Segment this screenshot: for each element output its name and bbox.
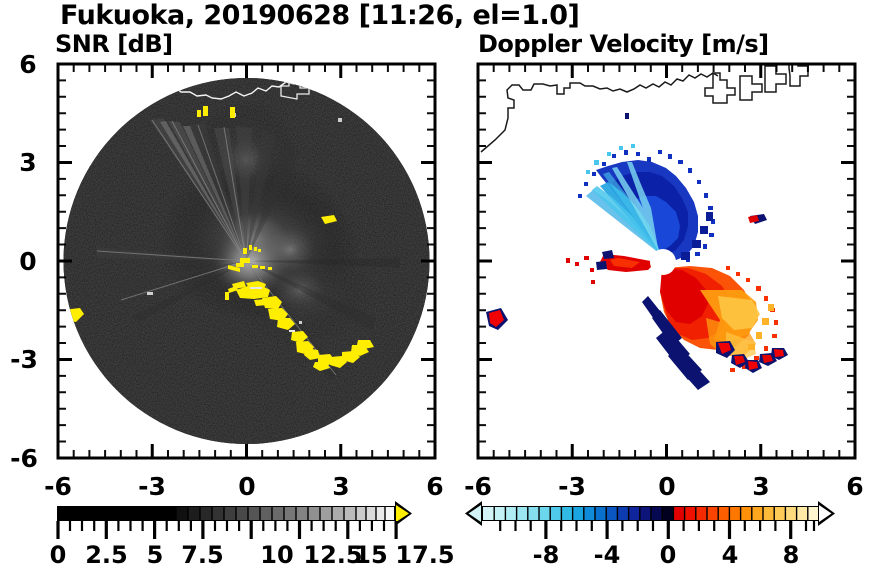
doppler-cbtick-m4: -4 <box>583 541 631 569</box>
snr-ytick-3: 3 <box>8 148 48 177</box>
snr-panel <box>58 64 435 458</box>
snr-cbtick-7p5: 7.5 <box>175 541 230 569</box>
doppler-center-hole <box>650 249 676 275</box>
snr-cbtick-5: 5 <box>141 541 169 569</box>
doppler-colorbar-ticks <box>500 521 814 539</box>
doppler-data-area <box>478 58 855 458</box>
snr-cbtick-15: 15 <box>349 541 394 569</box>
snr-colorbar[interactable] <box>57 501 412 539</box>
snr-data-area <box>58 64 435 458</box>
snr-xtick-m3: -3 <box>128 472 176 501</box>
doppler-xtick-3: 3 <box>741 472 781 501</box>
doppler-xtick-m3: -3 <box>548 472 596 501</box>
doppler-cbtick-m8: -8 <box>522 541 570 569</box>
snr-cbtick-10: 10 <box>255 541 300 569</box>
doppler-xtick-6: 6 <box>835 472 870 501</box>
doppler-colorbar[interactable] <box>465 501 835 539</box>
snr-colorbar-swatches <box>58 507 394 520</box>
snr-cbtick-17p5: 17.5 <box>391 541 459 569</box>
doppler-panel <box>478 58 855 458</box>
snr-cbtick-0: 0 <box>44 541 72 569</box>
doppler-colorbar-swatches <box>483 507 818 520</box>
figure-root: Fukuoka, 20190628 [11:26, el=1.0] SNR [d… <box>0 0 870 570</box>
snr-colorbar-ticks <box>58 521 396 539</box>
snr-xtick-6: 6 <box>415 472 455 501</box>
snr-xtick-m6: -6 <box>34 472 82 501</box>
doppler-cbtick-8: 8 <box>776 541 806 569</box>
snr-ytick-m3: -3 <box>0 345 48 374</box>
doppler-xtick-0: 0 <box>647 472 687 501</box>
snr-ytick-m6: -6 <box>0 444 48 473</box>
snr-xtick-3: 3 <box>321 472 361 501</box>
snr-xtick-0: 0 <box>227 472 267 501</box>
doppler-xtick-m6: -6 <box>454 472 502 501</box>
doppler-cbtick-0: 0 <box>653 541 683 569</box>
snr-cbtick-2p5: 2.5 <box>79 541 134 569</box>
snr-ytick-6: 6 <box>8 50 48 79</box>
doppler-cbtick-4: 4 <box>715 541 745 569</box>
snr-ytick-0: 0 <box>8 247 48 276</box>
